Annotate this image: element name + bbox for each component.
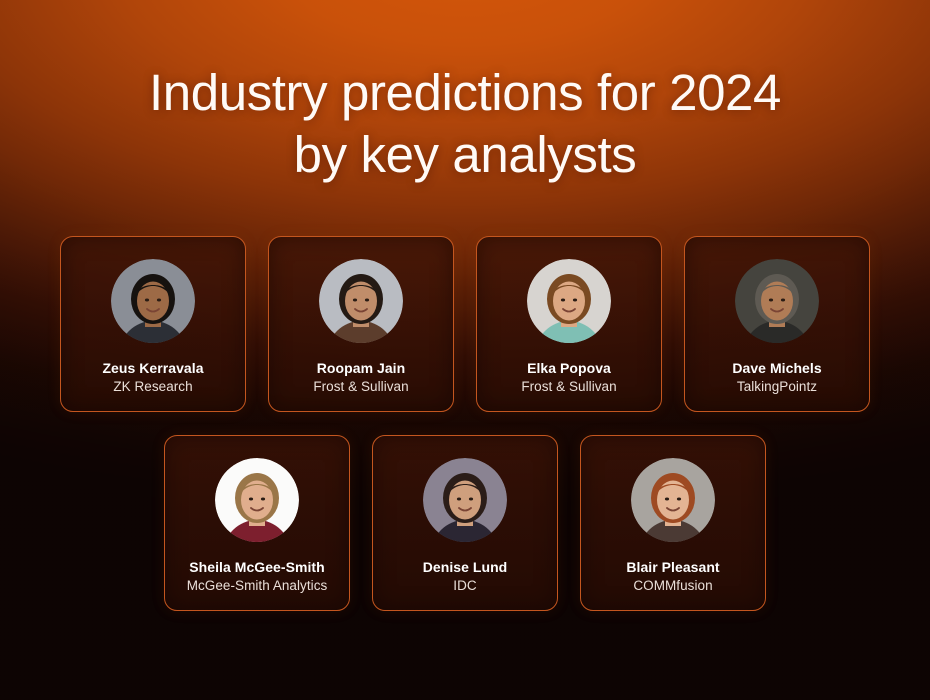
analyst-card[interactable]: Elka Popova Frost & Sullivan xyxy=(476,236,662,412)
analyst-org: IDC xyxy=(379,576,551,595)
slide-content: Industry predictions for 2024 by key ana… xyxy=(0,0,930,700)
analyst-org: COMMfusion xyxy=(587,576,759,595)
analyst-org: Frost & Sullivan xyxy=(275,377,447,396)
analyst-card-text: Sheila McGee-Smith McGee-Smith Analytics xyxy=(165,558,349,595)
title-line-1: Industry predictions for 2024 xyxy=(0,62,930,124)
analyst-org: McGee-Smith Analytics xyxy=(171,576,343,595)
analyst-name: Zeus Kerravala xyxy=(67,359,239,377)
analyst-card-text: Blair Pleasant COMMfusion xyxy=(581,558,765,595)
analyst-card[interactable]: Roopam Jain Frost & Sullivan xyxy=(268,236,454,412)
analyst-name: Blair Pleasant xyxy=(587,558,759,576)
slide-canvas: Industry predictions for 2024 by key ana… xyxy=(0,0,930,700)
analyst-card[interactable]: Denise Lund IDC xyxy=(372,435,558,611)
analyst-org: TalkingPointz xyxy=(691,377,863,396)
analyst-card[interactable]: Sheila McGee-Smith McGee-Smith Analytics xyxy=(164,435,350,611)
portrait-photo-avatar xyxy=(215,458,299,542)
title-line-2: by key analysts xyxy=(0,124,930,186)
analyst-card-text: Zeus Kerravala ZK Research xyxy=(61,359,245,396)
avatar xyxy=(423,458,507,542)
analyst-card-text: Dave Michels TalkingPointz xyxy=(685,359,869,396)
analyst-name: Elka Popova xyxy=(483,359,655,377)
avatar xyxy=(111,259,195,343)
analyst-card[interactable]: Dave Michels TalkingPointz xyxy=(684,236,870,412)
portrait-photo-avatar xyxy=(735,259,819,343)
portrait-photo-avatar xyxy=(423,458,507,542)
page-title: Industry predictions for 2024 by key ana… xyxy=(0,62,930,186)
portrait-photo-avatar xyxy=(527,259,611,343)
analyst-card-text: Elka Popova Frost & Sullivan xyxy=(477,359,661,396)
analyst-card[interactable]: Zeus Kerravala ZK Research xyxy=(60,236,246,412)
analyst-card-text: Denise Lund IDC xyxy=(373,558,557,595)
portrait-photo-avatar xyxy=(111,259,195,343)
analyst-name: Dave Michels xyxy=(691,359,863,377)
avatar xyxy=(631,458,715,542)
portrait-photo-avatar xyxy=(319,259,403,343)
analyst-name: Sheila McGee-Smith xyxy=(171,558,343,576)
avatar xyxy=(319,259,403,343)
analyst-name: Roopam Jain xyxy=(275,359,447,377)
analyst-card[interactable]: Blair Pleasant COMMfusion xyxy=(580,435,766,611)
analyst-card-text: Roopam Jain Frost & Sullivan xyxy=(269,359,453,396)
analyst-name: Denise Lund xyxy=(379,558,551,576)
analyst-org: Frost & Sullivan xyxy=(483,377,655,396)
analyst-org: ZK Research xyxy=(67,377,239,396)
portrait-photo-avatar xyxy=(631,458,715,542)
avatar xyxy=(215,458,299,542)
avatar xyxy=(735,259,819,343)
avatar xyxy=(527,259,611,343)
